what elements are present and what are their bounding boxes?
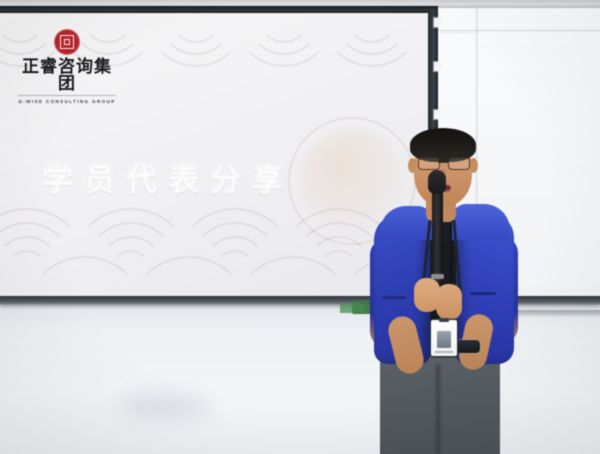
screen-bracket-notch [434,18,442,27]
presenter-vest-pocket [382,296,406,299]
presenter-vest-shoulder-right [452,204,510,240]
presenter-eyebrow-left [419,152,436,155]
glasses-bridge [438,161,448,163]
company-name-cn: 正睿咨询集团 [14,59,120,93]
microphone-head-icon [428,170,446,194]
screen-bracket-notch [434,62,442,71]
screen-bracket-notch [434,110,442,119]
presenter-vest-shoulder-left [380,206,432,240]
company-logo: 正睿咨询集团 G-WISE CONSULTING GROUP [14,29,120,104]
presenter-ear-right [469,158,478,173]
id-badge-text-line [435,351,453,353]
presenter [352,128,552,454]
presenter-leg-seam [436,364,440,454]
panel-edge-line [432,30,600,31]
presenter-ear-left [408,158,417,173]
id-badge-photo [437,331,451,348]
company-name-en: G-WISE CONSULTING GROUP [14,99,120,104]
presenter-eyebrow-right [449,152,466,155]
logo-divider [18,95,116,96]
glasses-icon [448,157,470,170]
glasses-icon [418,157,440,170]
company-seal-icon [54,29,80,55]
presenter-hand-right [436,284,462,320]
wristwatch-icon [456,340,480,353]
presenter-vest-pocket [470,292,496,295]
slide-title: 学员代表分享 [42,155,322,200]
video-frame: 学员代表分享 [0,0,600,454]
id-badge-clip [439,318,449,322]
panel-edge-line [432,32,478,33]
